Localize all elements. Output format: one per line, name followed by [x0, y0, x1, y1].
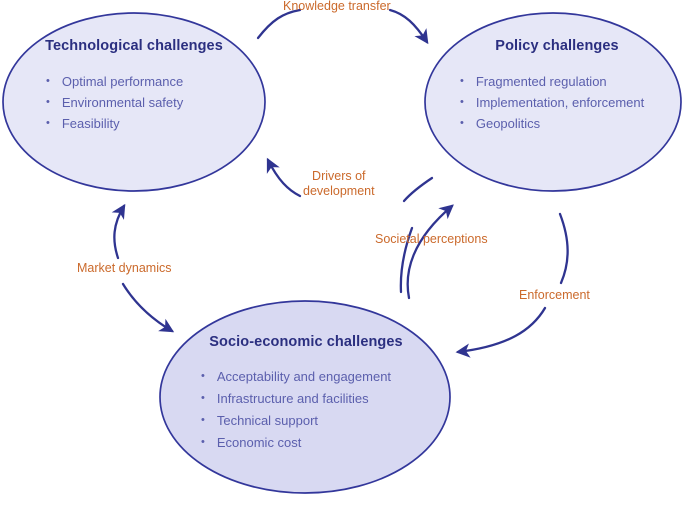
list-item-label: Infrastructure and facilities	[217, 388, 369, 410]
node-technological-items: • Optimal performance • Environmental sa…	[18, 71, 250, 134]
node-policy-title: Policy challenges	[438, 38, 676, 54]
arrow-knowledge-transfer-head	[390, 10, 427, 42]
bullet-icon: •	[201, 437, 205, 448]
node-policy-items: • Fragmented regulation • Implementation…	[438, 71, 676, 134]
list-item-label: Environmental safety	[62, 92, 183, 113]
arrow-enforcement	[458, 308, 545, 352]
arrow-drivers-of-development-tail	[404, 178, 432, 201]
bullet-icon: •	[46, 97, 50, 108]
edge-label-knowledge-transfer: Knowledge transfer	[283, 0, 391, 14]
arrow-societal-perceptions	[408, 206, 452, 298]
list-item-label: Feasibility	[62, 113, 120, 134]
bullet-icon: •	[460, 76, 464, 87]
node-policy-challenges: Policy challenges • Fragmented regulatio…	[438, 38, 676, 134]
list-item-label: Economic cost	[217, 432, 302, 454]
bullet-icon: •	[46, 76, 50, 87]
list-item-label: Implementation, enforcement	[476, 92, 644, 113]
node-socio-economic-title: Socio-economic challenges	[173, 334, 439, 350]
arrow-market-dynamics-down	[123, 284, 172, 331]
bullet-icon: •	[201, 371, 205, 382]
list-item: • Acceptability and engagement	[201, 366, 439, 388]
list-item: • Feasibility	[46, 113, 250, 134]
list-item-label: Fragmented regulation	[476, 71, 607, 92]
arrow-enforcement-tail	[560, 214, 568, 283]
arrow-market-dynamics-up	[114, 206, 124, 258]
list-item: • Fragmented regulation	[460, 71, 676, 92]
edge-label-market-dynamics: Market dynamics	[77, 261, 171, 276]
list-item: • Optimal performance	[46, 71, 250, 92]
edge-label-drivers-of-development: Drivers of development	[303, 169, 375, 199]
list-item: • Economic cost	[201, 432, 439, 454]
list-item-label: Acceptability and engagement	[217, 366, 391, 388]
list-item: • Technical support	[201, 410, 439, 432]
list-item-label: Optimal performance	[62, 71, 183, 92]
list-item: • Implementation, enforcement	[460, 92, 676, 113]
bullet-icon: •	[460, 118, 464, 129]
node-technological-challenges: Technological challenges • Optimal perfo…	[18, 38, 250, 134]
list-item-label: Technical support	[217, 410, 318, 432]
bullet-icon: •	[201, 415, 205, 426]
list-item: • Environmental safety	[46, 92, 250, 113]
bullet-icon: •	[46, 118, 50, 129]
list-item: • Geopolitics	[460, 113, 676, 134]
bullet-icon: •	[201, 393, 205, 404]
node-socio-economic-items: • Acceptability and engagement • Infrast…	[173, 366, 439, 454]
cycle-diagram: Technological challenges • Optimal perfo…	[0, 0, 685, 505]
list-item: • Infrastructure and facilities	[201, 388, 439, 410]
edge-label-enforcement: Enforcement	[519, 288, 590, 303]
edge-label-societal-perceptions: Societal perceptions	[375, 232, 488, 247]
bullet-icon: •	[460, 97, 464, 108]
list-item-label: Geopolitics	[476, 113, 540, 134]
node-technological-title: Technological challenges	[18, 38, 250, 54]
arrow-drivers-of-development	[268, 160, 300, 196]
arrow-knowledge-transfer	[258, 10, 300, 38]
node-socio-economic-challenges: Socio-economic challenges • Acceptabilit…	[173, 334, 439, 454]
